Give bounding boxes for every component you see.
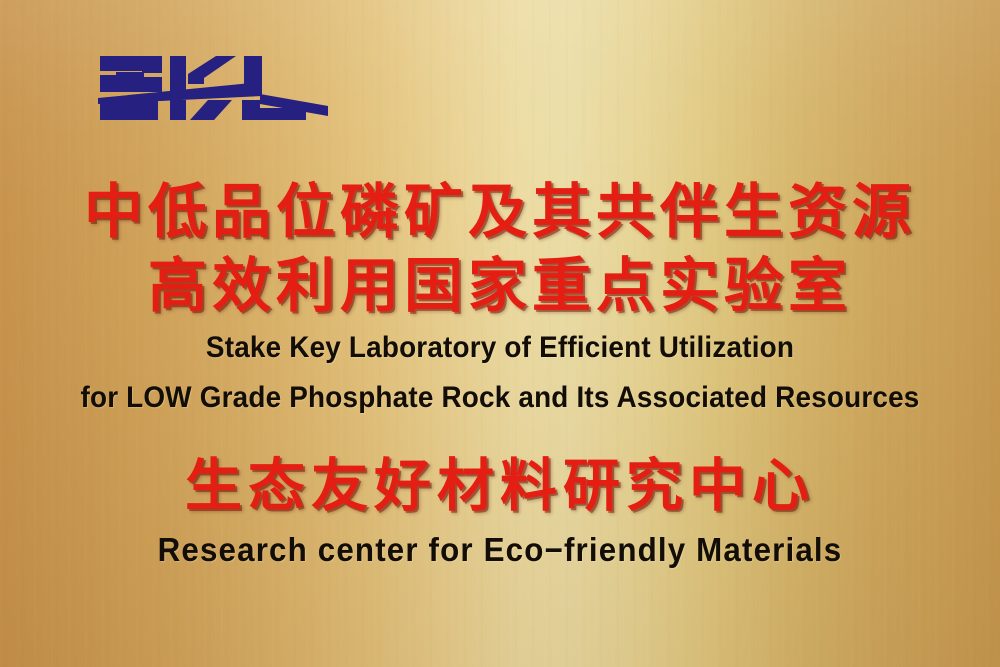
title-english-line-1: Stake Key Laboratory of Efficient Utiliz… bbox=[35, 333, 965, 363]
title-chinese-line-2: 高效利用国家重点实验室 bbox=[0, 256, 1000, 315]
subtitle-english: Research center for Eco−friendly Materia… bbox=[25, 533, 975, 566]
title-chinese-line-1: 中低品位磷矿及其共伴生资源 bbox=[0, 182, 1000, 241]
skl-logo bbox=[92, 44, 332, 132]
skl-logo-graphic bbox=[92, 44, 332, 132]
subtitle-chinese: 生态友好材料研究中心 bbox=[0, 458, 1000, 515]
title-english-line-2: for LOW Grade Phosphate Rock and Its Ass… bbox=[35, 383, 965, 413]
laboratory-plaque: 中低品位磷矿及其共伴生资源 高效利用国家重点实验室 Stake Key Labo… bbox=[0, 0, 1000, 667]
